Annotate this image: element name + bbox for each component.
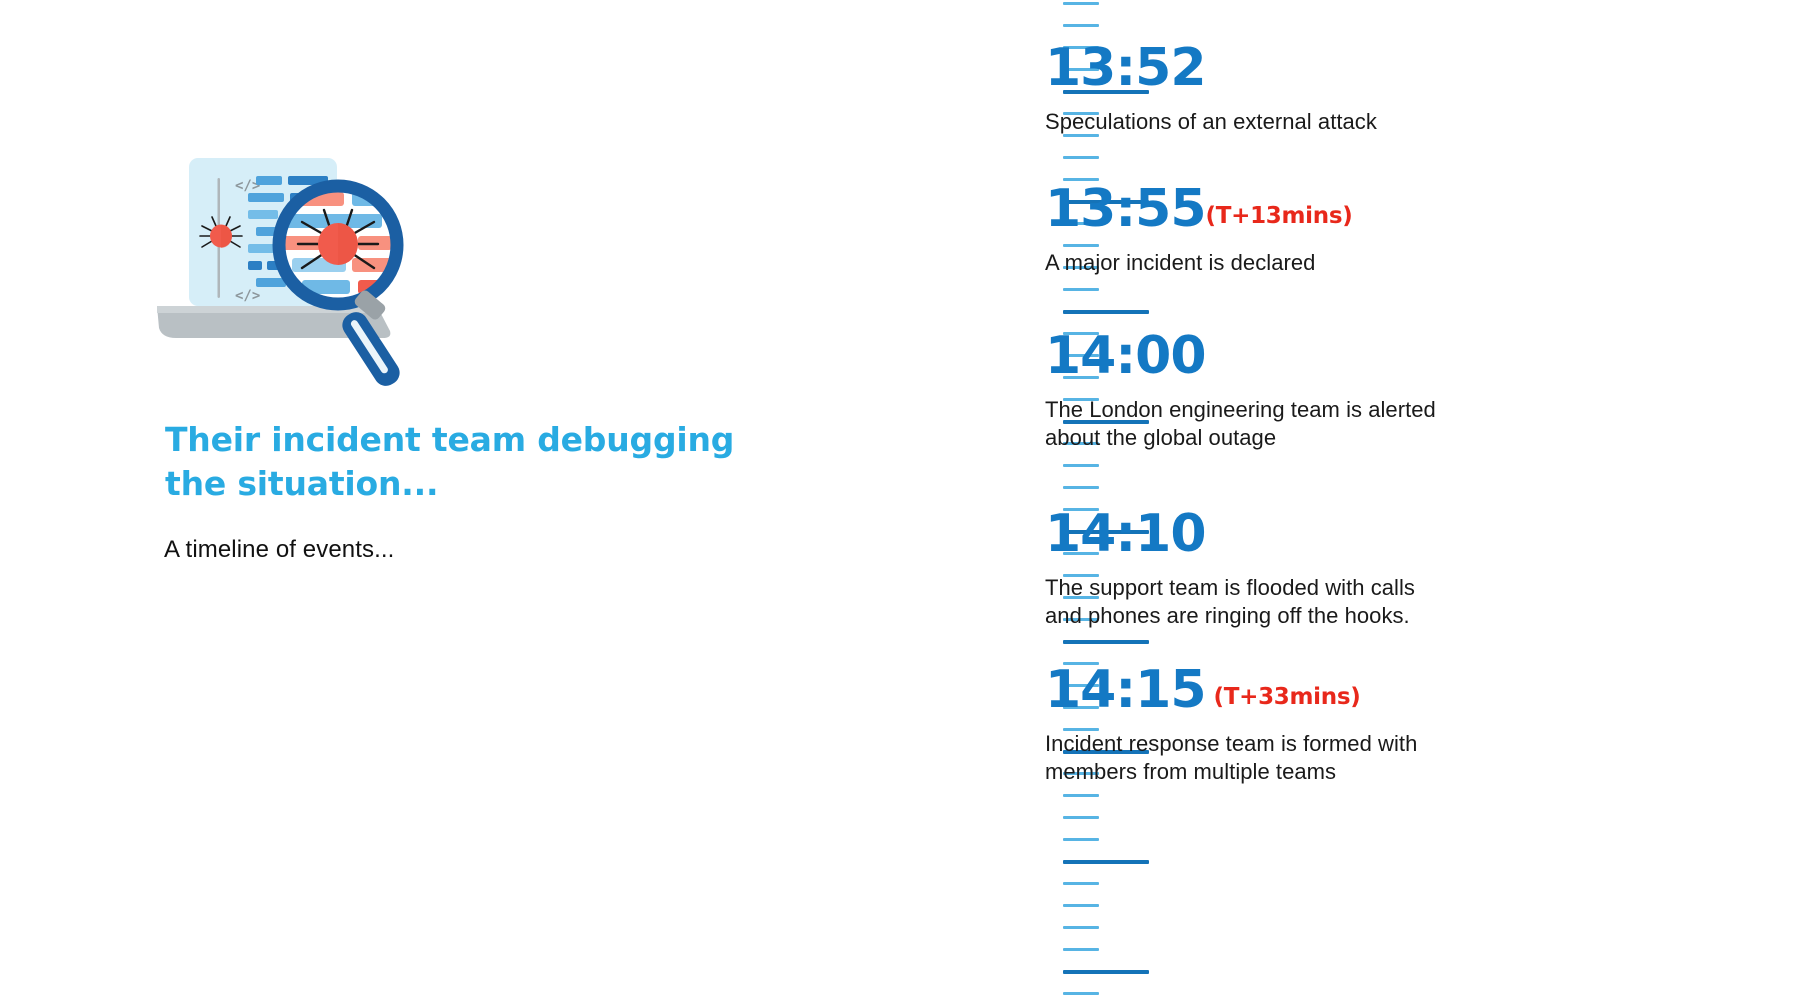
timeline-entry-time: 14:00 bbox=[1045, 326, 1206, 386]
page-headline: Their incident team debugging the situat… bbox=[165, 418, 785, 506]
timeline-entry: 14:10The support team is flooded with ca… bbox=[1045, 508, 1645, 630]
page-subheadline: A timeline of events... bbox=[164, 536, 394, 564]
timeline-entry: 13:55(T+13mins)A major incident is decla… bbox=[1045, 183, 1645, 277]
timeline-entry-description-line: The London engineering team is alerted bbox=[1045, 396, 1645, 424]
timeline-entry-description-line: A major incident is declared bbox=[1045, 249, 1645, 277]
timeline-entry-description-line: members from multiple teams bbox=[1045, 758, 1645, 786]
debugging-illustration: </> </> bbox=[152, 148, 422, 408]
timeline-entry-description-line: and phones are ringing off the hooks. bbox=[1045, 602, 1645, 630]
timeline-entry: 14:00The London engineering team is aler… bbox=[1045, 330, 1645, 452]
timeline-entry-time: 13:52 bbox=[1045, 38, 1206, 98]
timeline-entry-description: A major incident is declared bbox=[1045, 249, 1645, 277]
timeline-entry-description-line: Incident response team is formed with bbox=[1045, 730, 1645, 758]
timeline-entry-time: 14:10 bbox=[1045, 504, 1206, 564]
timeline-entry-time-row: 14:00 bbox=[1045, 330, 1645, 382]
timeline-entry: 13:52Speculations of an external attack bbox=[1045, 42, 1645, 136]
timeline-entry-description: The London engineering team is alertedab… bbox=[1045, 396, 1645, 452]
headline-line-1: Their incident team debugging bbox=[165, 418, 785, 462]
timeline-entry-description: Speculations of an external attack bbox=[1045, 108, 1645, 136]
headline-line-2: the situation... bbox=[165, 462, 785, 506]
timeline-entry-time-row: 13:55(T+13mins) bbox=[1045, 183, 1645, 235]
left-panel: </> </> bbox=[0, 0, 1000, 1000]
timeline-entry-description-line: The support team is flooded with calls bbox=[1045, 574, 1645, 602]
timeline-entry-offset: (T+33mins) bbox=[1214, 684, 1361, 710]
timeline-entry-time-row: 13:52 bbox=[1045, 42, 1645, 94]
incident-timeline: 13:52Speculations of an external attack1… bbox=[1045, 0, 1665, 1000]
timeline-entry-description-line: Speculations of an external attack bbox=[1045, 108, 1645, 136]
timeline-entry-description-line: about the global outage bbox=[1045, 424, 1645, 452]
timeline-entry-time-row: 14:15(T+33mins) bbox=[1045, 664, 1645, 716]
timeline-entry-description: Incident response team is formed withmem… bbox=[1045, 730, 1645, 786]
timeline-entry-time-row: 14:10 bbox=[1045, 508, 1645, 560]
timeline-entry: 14:15(T+33mins)Incident response team is… bbox=[1045, 664, 1645, 786]
timeline-entry-time: 13:55 bbox=[1045, 179, 1206, 239]
timeline-entry-time: 14:15 bbox=[1045, 660, 1206, 720]
laptop-bug-magnifier-svg: </> </> bbox=[152, 148, 422, 408]
timeline-entry-offset: (T+13mins) bbox=[1206, 203, 1353, 229]
timeline-entry-description: The support team is flooded with callsan… bbox=[1045, 574, 1645, 630]
code-chevron-bottom: </> bbox=[235, 288, 260, 304]
